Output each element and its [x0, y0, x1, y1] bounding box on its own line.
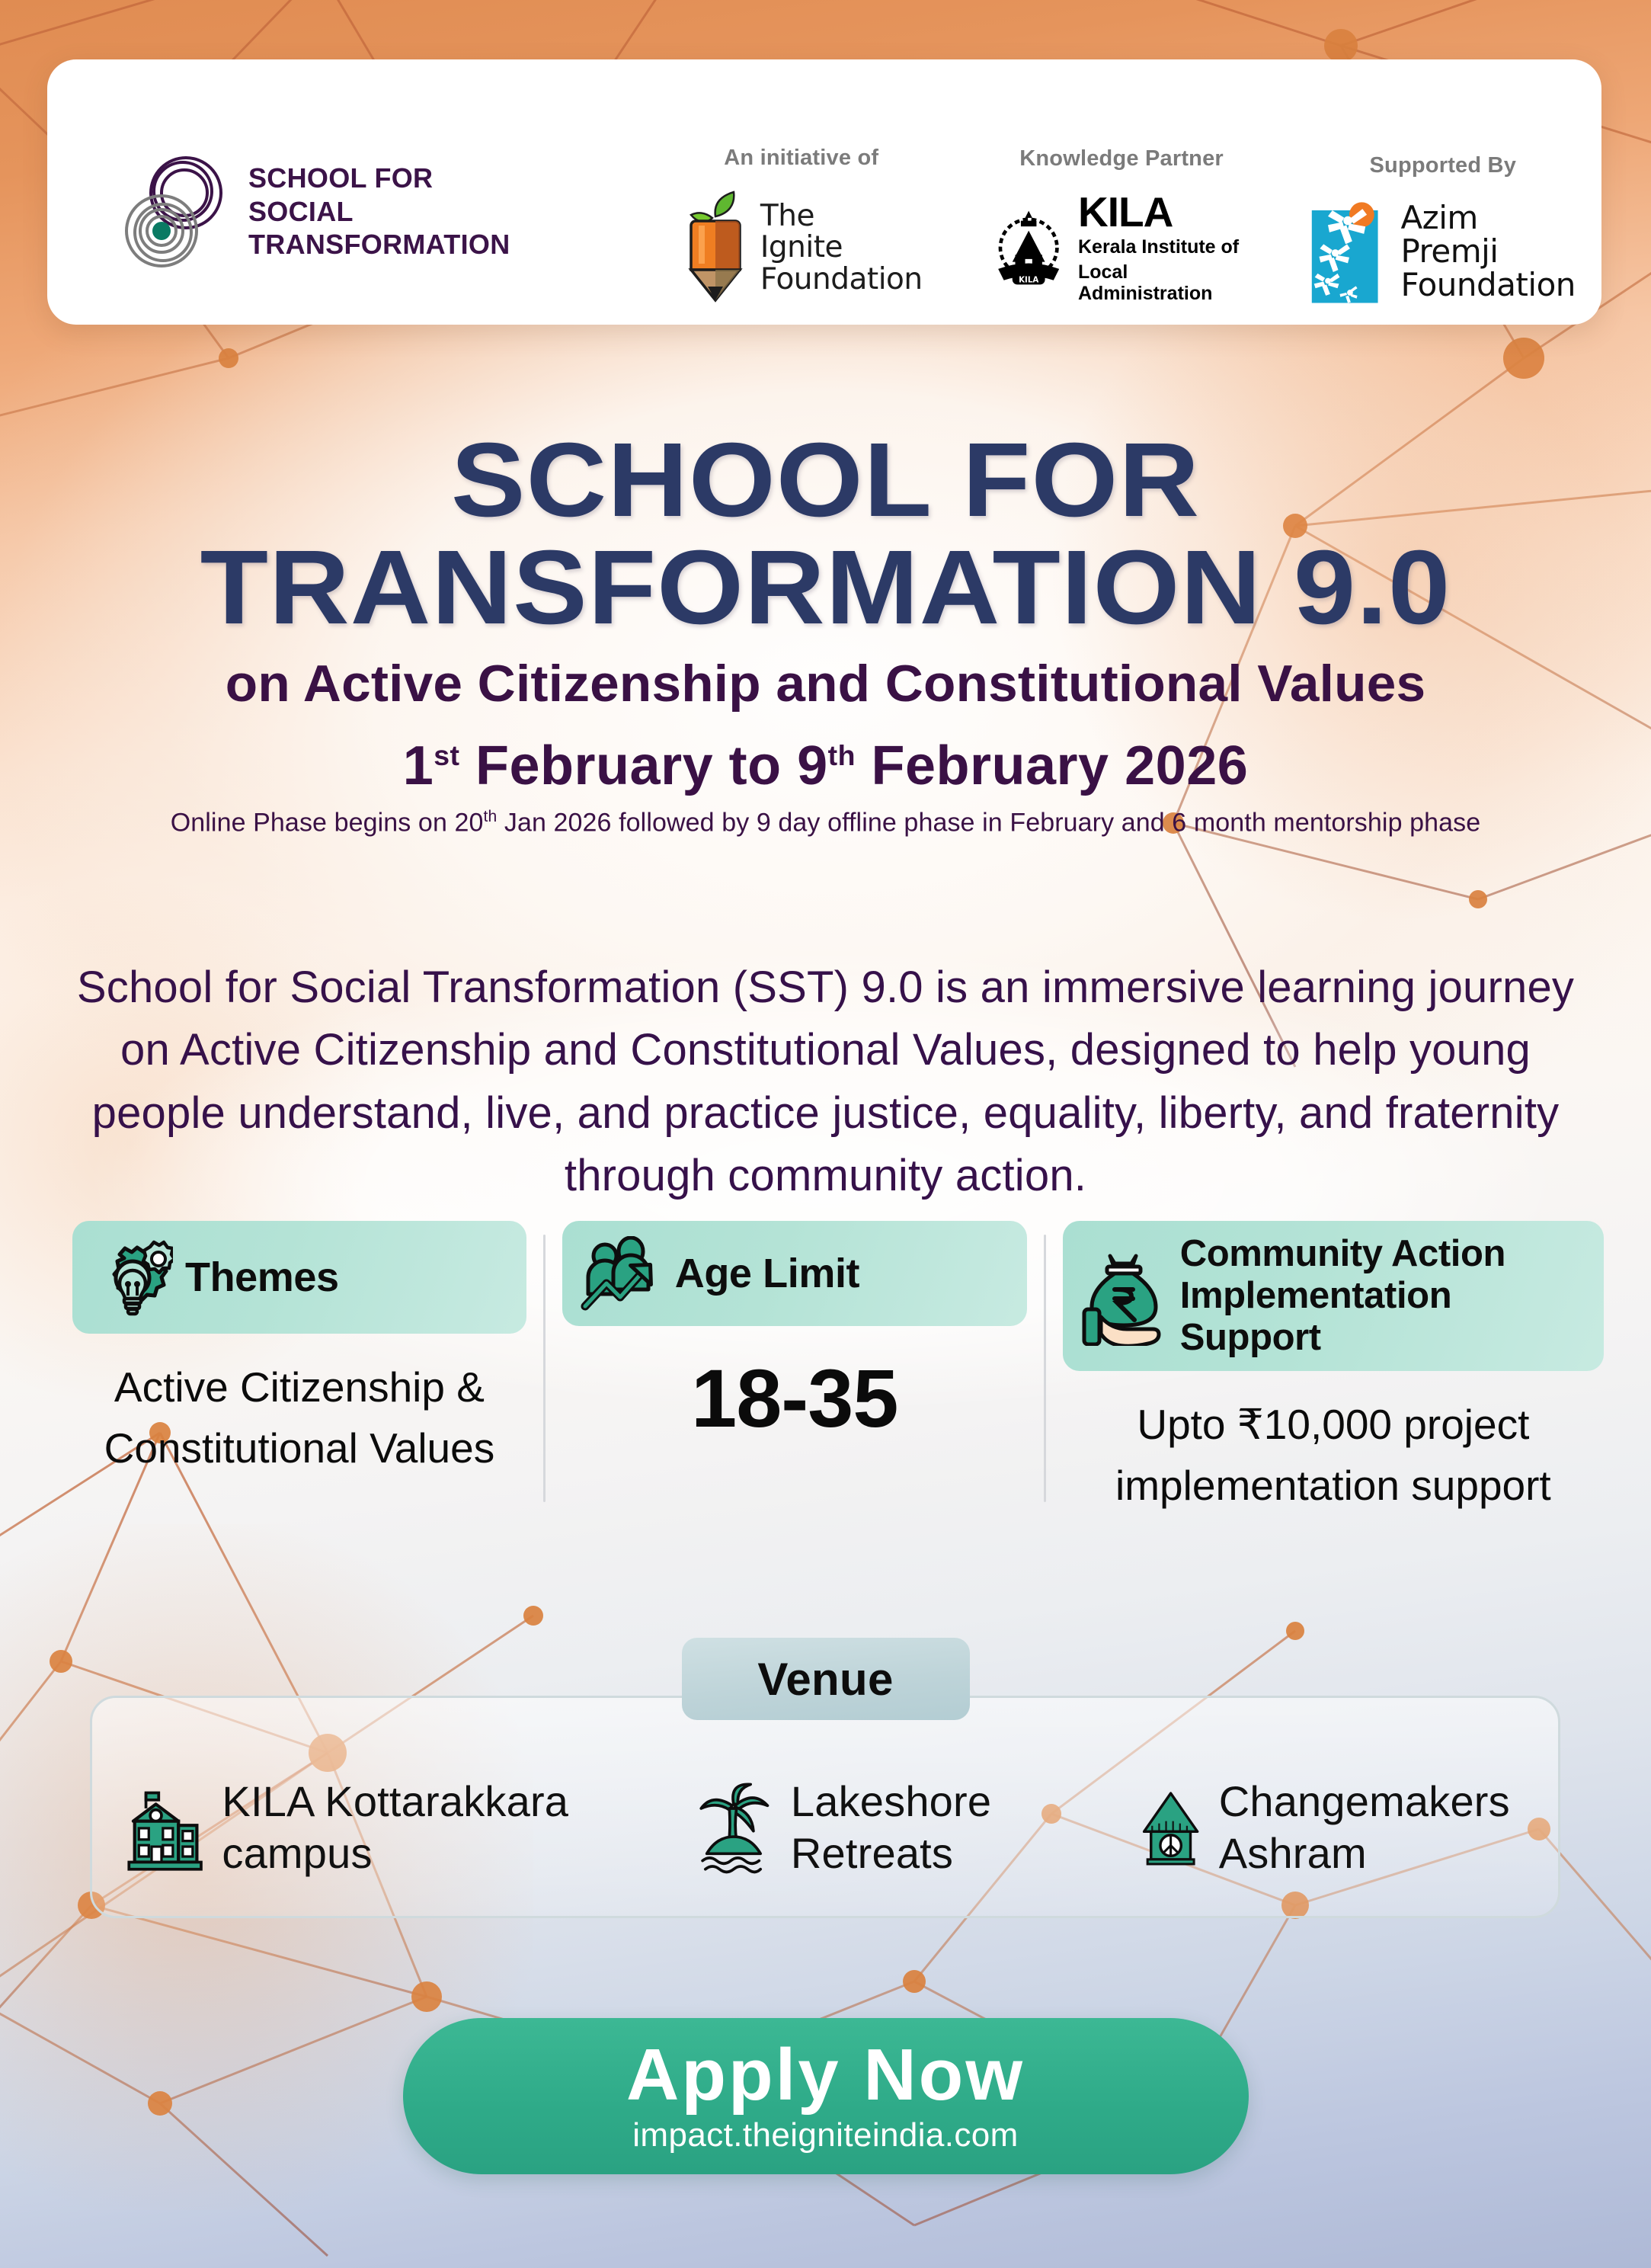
supported-by-group: Supported By [1307, 153, 1579, 305]
age-limit-chip: Age Limit [562, 1221, 1027, 1326]
poster-canvas: SCHOOL FOR SOCIAL TRANSFORMATION An init… [0, 0, 1651, 2268]
page-title-line-1: SCHOOL FOR [0, 427, 1651, 534]
phase-note-part-a: Online Phase begins on 20 [171, 808, 484, 837]
sst-logo: SCHOOL FOR SOCIAL TRANSFORMATION [119, 149, 589, 274]
venue-item-changemakers: Changemakers Ashram [1138, 1776, 1560, 1880]
money-bag-hand-icon [1078, 1245, 1168, 1346]
venue-items-row: KILA Kottarakkara campus Lakeshore Retre… [90, 1776, 1560, 1880]
kila-wordmark: KILA Kerala Institute of Local Administr… [1078, 191, 1254, 305]
themes-chip-label: Themes [185, 1257, 339, 1298]
kila-acronym: KILA [1078, 191, 1254, 233]
community-action-chip: Community Action Implementation Support [1063, 1221, 1604, 1371]
ignite-line-1: The [760, 200, 923, 232]
venue-name-kila: KILA Kottarakkara campus [222, 1776, 694, 1880]
venue-name-lakeshore: Lakeshore Retreats [791, 1776, 1139, 1880]
pencil-leaf-icon [680, 191, 753, 305]
apply-now-button[interactable]: Apply Now impact.theigniteindia.com [403, 2018, 1249, 2174]
school-building-icon [122, 1778, 206, 1877]
community-action-chip-label: Community Action Implementation Support [1180, 1233, 1589, 1359]
kila-logo: KILA KILA Kerala Institute of Local Admi… [990, 191, 1254, 305]
date-ordinal-start: st [434, 739, 459, 771]
azim-line-2: Foundation [1400, 268, 1579, 302]
azim-line-1: Azim Premji [1400, 201, 1579, 267]
age-limit-value: 18-35 [562, 1353, 1027, 1444]
venue-item-lakeshore: Lakeshore Retreats [694, 1776, 1138, 1880]
knowledge-partner-group: Knowledge Partner KILA [990, 146, 1254, 305]
kila-subline-2: Local Administration [1078, 261, 1254, 306]
sst-line-2: SOCIAL TRANSFORMATION [248, 195, 589, 262]
apply-now-url[interactable]: impact.theigniteindia.com [632, 2116, 1018, 2154]
venue-item-kila: KILA Kottarakkara campus [122, 1776, 694, 1880]
caption-supported-by: Supported By [1370, 153, 1517, 178]
phase-ordinal: th [484, 808, 498, 825]
partner-logo-header: SCHOOL FOR SOCIAL TRANSFORMATION An init… [47, 59, 1601, 325]
phase-note-part-b: Jan 2026 followed by 9 day offline phase… [497, 808, 1480, 837]
palm-island-icon [694, 1778, 776, 1877]
date-ordinal-end: th [828, 739, 856, 771]
kila-seal-icon: KILA [990, 205, 1067, 290]
apply-now-label: Apply Now [626, 2039, 1025, 2112]
sst-line-1: SCHOOL FOR [248, 162, 589, 195]
info-card-themes: Themes Active Citizenship & Constitution… [72, 1221, 526, 1516]
page-title-line-2: TRANSFORMATION 9.0 [0, 534, 1651, 642]
info-card-community-action: Community Action Implementation Support … [1063, 1221, 1604, 1516]
kila-subline-1: Kerala Institute of [1078, 236, 1254, 258]
ignite-line-2: Ignite [760, 232, 923, 263]
info-card-age-limit: Age Limit 18-35 [562, 1221, 1027, 1516]
program-description: School for Social Transformation (SST) 9… [72, 956, 1579, 1207]
caption-initiative-of: An initiative of [724, 146, 878, 171]
ignite-wordmark: The Ignite Foundation [760, 200, 923, 295]
themes-chip: Themes [72, 1221, 526, 1334]
initiative-group: An initiative of The Ignite Foundation [680, 146, 923, 305]
venue-tab-label: Venue [682, 1638, 970, 1720]
svg-text:KILA: KILA [1019, 277, 1038, 285]
community-action-value: Upto ₹10,000 project implementation supp… [1063, 1394, 1604, 1517]
gear-lightbulb-icon [91, 1236, 173, 1318]
event-date-range: 1st February to 9th February 2026 [0, 735, 1651, 797]
ignite-line-3: Foundation [760, 264, 923, 295]
ignite-foundation-logo: The Ignite Foundation [680, 191, 923, 305]
age-limit-chip-label: Age Limit [675, 1253, 859, 1294]
caption-knowledge-partner: Knowledge Partner [1019, 146, 1224, 171]
info-cards-row: Themes Active Citizenship & Constitution… [72, 1221, 1604, 1516]
azim-flowers-icon [1307, 198, 1392, 305]
phase-note: Online Phase begins on 20th Jan 2026 fol… [0, 808, 1651, 838]
sst-rings-icon [119, 149, 233, 274]
venue-name-changemakers: Changemakers Ashram [1219, 1776, 1560, 1880]
peace-hut-icon [1138, 1778, 1203, 1877]
page-subtitle: on Active Citizenship and Constitutional… [0, 654, 1651, 713]
sst-wordmark: SCHOOL FOR SOCIAL TRANSFORMATION [248, 162, 589, 262]
azim-wordmark: Azim Premji Foundation [1400, 201, 1579, 301]
card-divider-1 [543, 1235, 546, 1502]
title-block: SCHOOL FOR TRANSFORMATION 9.0 on Active … [0, 427, 1651, 838]
people-growth-icon [581, 1236, 663, 1311]
azim-premji-logo: Azim Premji Foundation [1307, 198, 1579, 305]
date-end: February 2026 [856, 735, 1248, 796]
date-middle: February to 9 [460, 735, 828, 796]
date-day-start: 1 [403, 735, 434, 796]
card-divider-2 [1044, 1235, 1046, 1502]
themes-value: Active Citizenship & Constitutional Valu… [72, 1357, 526, 1479]
